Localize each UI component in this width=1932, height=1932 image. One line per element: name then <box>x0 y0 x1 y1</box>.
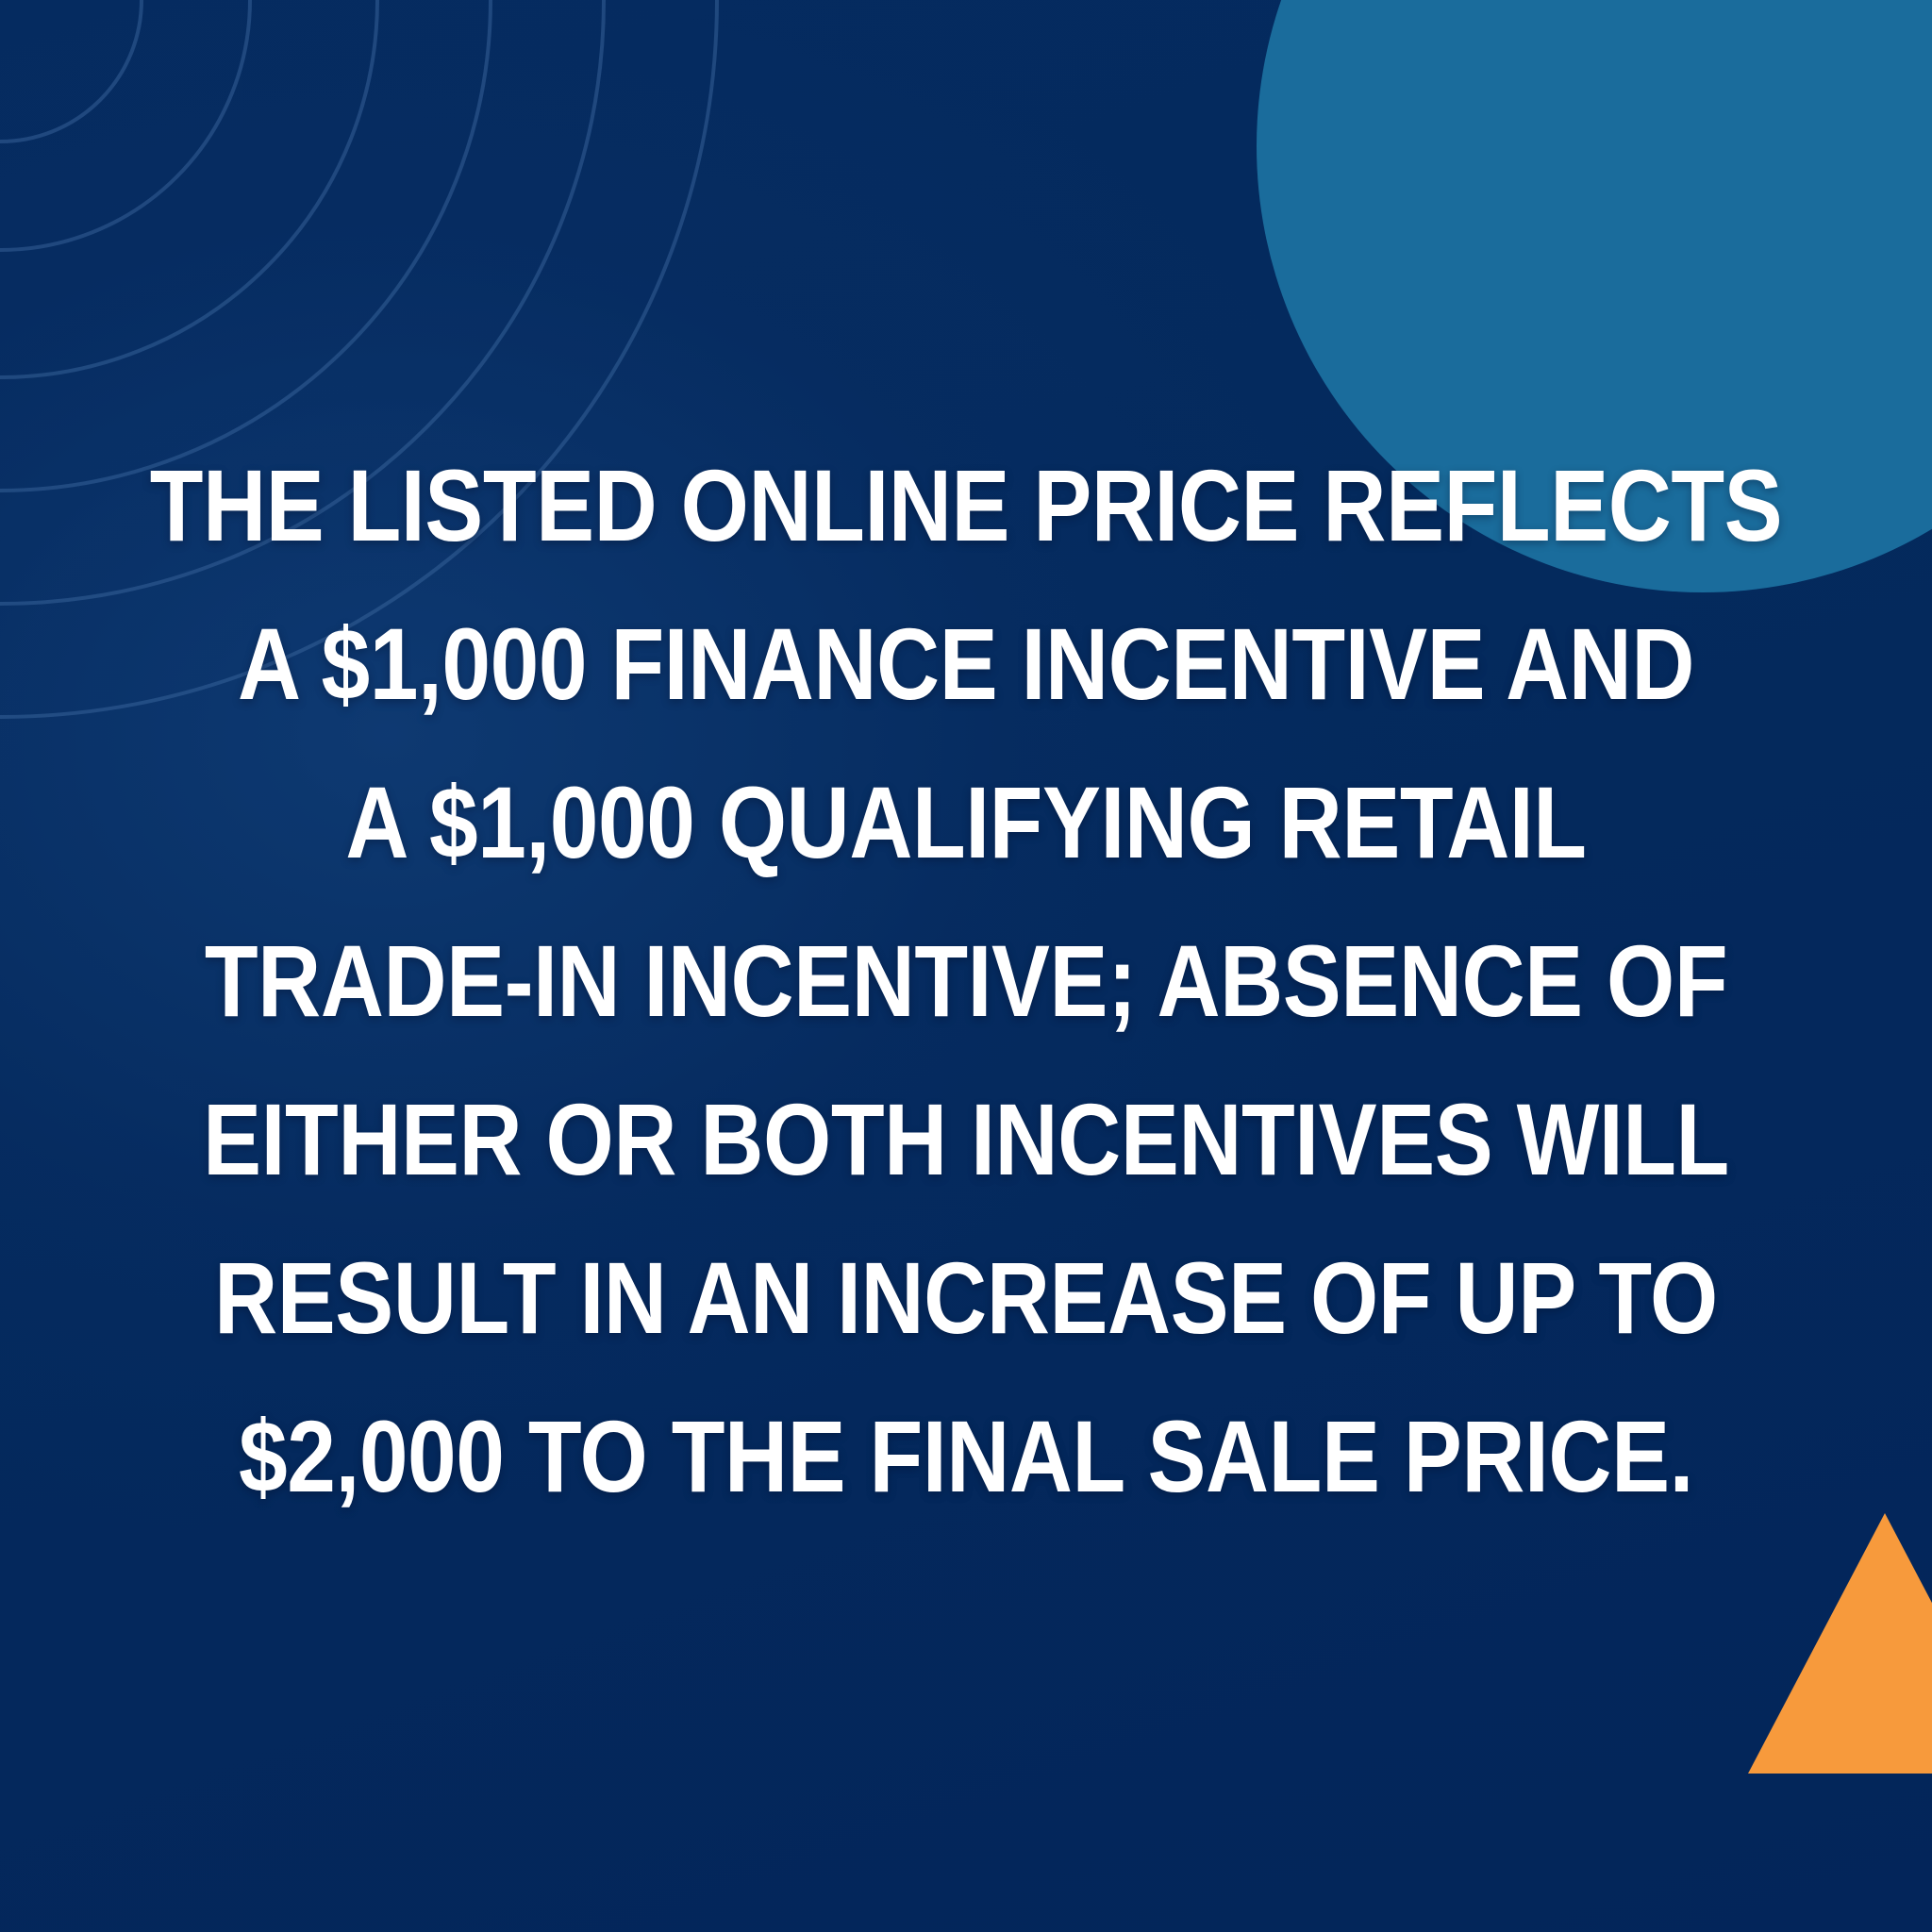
disclaimer-headline: THE LISTED ONLINE PRICE REFLECTS A $1,00… <box>0 426 1932 1536</box>
headline-line: THE LISTED ONLINE PRICE REFLECTS <box>87 426 1845 585</box>
headline-line: TRADE-IN INCENTIVE; ABSENCE OF <box>87 902 1845 1060</box>
headline-line: RESULT IN AN INCREASE OF UP TO <box>87 1219 1845 1377</box>
headline-line: $2,000 TO THE FINAL SALE PRICE. <box>87 1377 1845 1536</box>
headline-line: A $1,000 QUALIFYING RETAIL <box>87 743 1845 902</box>
headline-line: EITHER OR BOTH INCENTIVES WILL <box>87 1060 1845 1219</box>
accent-triangle-decoration <box>1746 1513 1932 1774</box>
slide-canvas: THE LISTED ONLINE PRICE REFLECTS A $1,00… <box>0 0 1932 1932</box>
headline-line: A $1,000 FINANCE INCENTIVE AND <box>87 585 1845 743</box>
